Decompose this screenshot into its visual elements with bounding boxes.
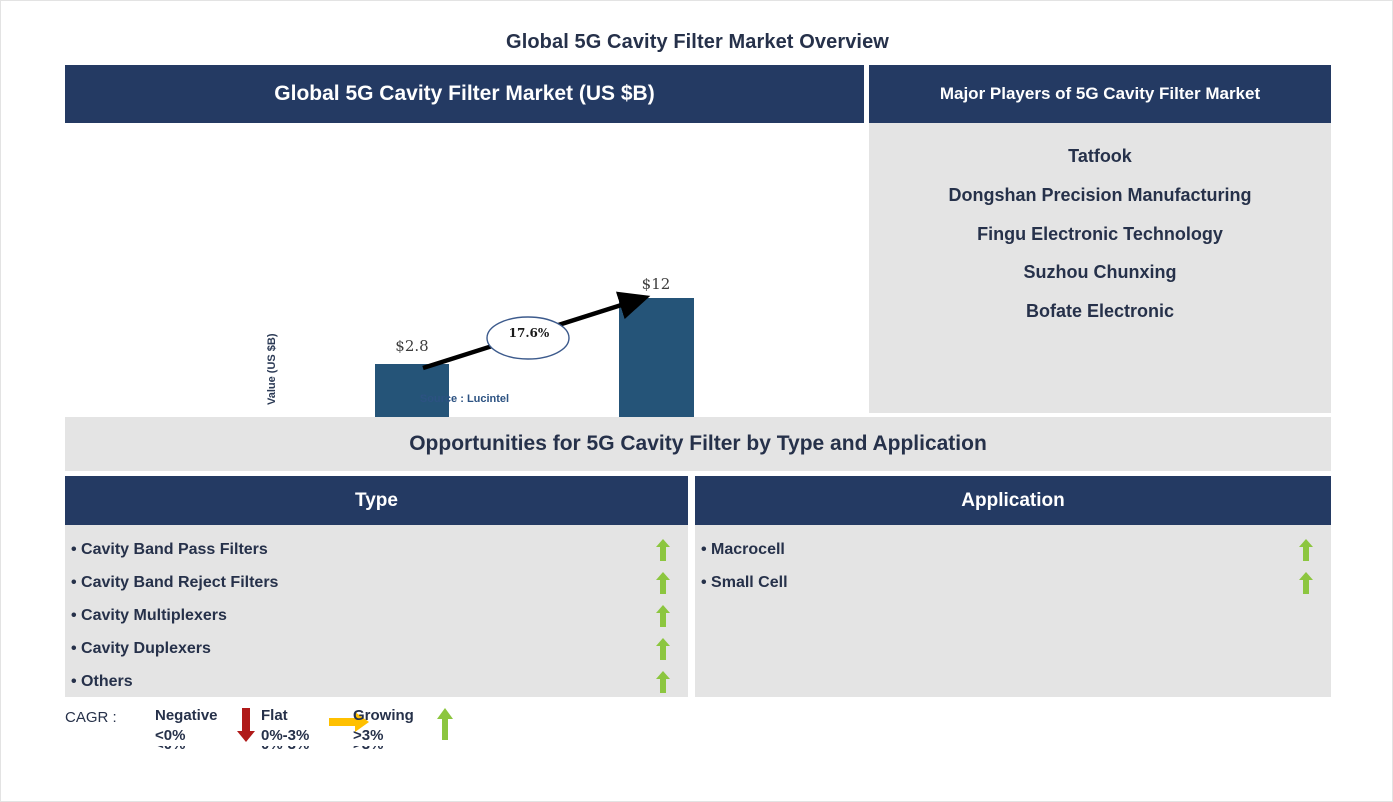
list-item: Tatfook — [1068, 147, 1132, 167]
opportunities-banner-label: Opportunities for 5G Cavity Filter by Ty… — [409, 432, 987, 456]
list-item: • Cavity Band Pass Filters — [65, 533, 688, 566]
list-item: Fingu Electronic Technology — [977, 225, 1223, 245]
legend-growing-range: >3% — [353, 726, 473, 746]
cagr-legend-ghost-row: <0% 0%-3% >3% — [65, 746, 585, 766]
application-panel-header: Application — [695, 476, 1331, 525]
arrow-up-icon — [437, 708, 453, 740]
type-item-label: • Cavity Duplexers — [71, 640, 211, 658]
type-panel-header: Type — [65, 476, 688, 525]
type-panel-header-label: Type — [355, 490, 398, 512]
type-item-label: • Cavity Band Reject Filters — [71, 574, 278, 592]
list-item: • Macrocell — [695, 533, 1331, 566]
type-item-label: • Cavity Multiplexers — [71, 607, 227, 625]
application-item-label: • Small Cell — [701, 574, 788, 592]
list-item: • Cavity Duplexers — [65, 632, 688, 665]
chart-panel-header: Global 5G Cavity Filter Market (US $B) — [65, 65, 864, 123]
type-item-label: • Others — [71, 673, 133, 691]
legend-item-growing: Growing >3% — [353, 706, 473, 746]
list-item: • Cavity Band Reject Filters — [65, 566, 688, 599]
list-item: • Others — [65, 665, 688, 698]
list-item: • Small Cell — [695, 566, 1331, 599]
arrow-down-icon — [237, 708, 255, 742]
list-item: • Cavity Multiplexers — [65, 599, 688, 632]
legend-ghost-growing-range: >3% — [353, 746, 383, 755]
list-item: Bofate Electronic — [1026, 302, 1174, 322]
arrow-up-icon — [656, 638, 670, 660]
infographic-page: Global 5G Cavity Filter Market Overview … — [0, 0, 1393, 802]
application-item-label: • Macrocell — [701, 541, 785, 559]
players-list: Tatfook Dongshan Precision Manufacturing… — [869, 123, 1331, 413]
chart-source-note: Source : Lucintel — [65, 393, 864, 405]
legend-ghost-negative-range: <0% — [155, 746, 185, 755]
legend-negative-range: <0% — [155, 726, 275, 746]
legend-ghost-flat-range: 0%-3% — [261, 746, 309, 755]
legend-item-negative: Negative <0% — [155, 706, 275, 746]
market-bar-chart: Value (US $B) $2.8 $12 2026 2035 17.6% — [65, 123, 864, 413]
arrow-up-icon — [656, 605, 670, 627]
list-item: Dongshan Precision Manufacturing — [948, 186, 1251, 206]
list-item: Suzhou Chunxing — [1024, 263, 1177, 283]
type-list: • Cavity Band Pass Filters • Cavity Band… — [65, 525, 688, 697]
players-panel-header: Major Players of 5G Cavity Filter Market — [869, 65, 1331, 123]
application-list: • Macrocell • Small Cell — [695, 525, 1331, 697]
arrow-up-icon — [656, 671, 670, 693]
application-panel-header-label: Application — [961, 490, 1064, 512]
legend-growing-word: Growing — [353, 706, 473, 726]
arrow-up-icon — [1299, 539, 1313, 561]
cagr-value-label: 17.6% — [489, 326, 569, 340]
cagr-legend-title: CAGR : — [65, 709, 117, 726]
type-item-label: • Cavity Band Pass Filters — [71, 541, 268, 559]
chart-panel-header-label: Global 5G Cavity Filter Market (US $B) — [274, 82, 654, 106]
legend-negative-word: Negative — [155, 706, 275, 726]
opportunities-banner: Opportunities for 5G Cavity Filter by Ty… — [65, 417, 1331, 471]
players-panel-header-label: Major Players of 5G Cavity Filter Market — [940, 84, 1260, 104]
page-title: Global 5G Cavity Filter Market Overview — [1, 31, 1393, 54]
arrow-up-icon — [1299, 572, 1313, 594]
arrow-up-icon — [656, 572, 670, 594]
arrow-up-icon — [656, 539, 670, 561]
